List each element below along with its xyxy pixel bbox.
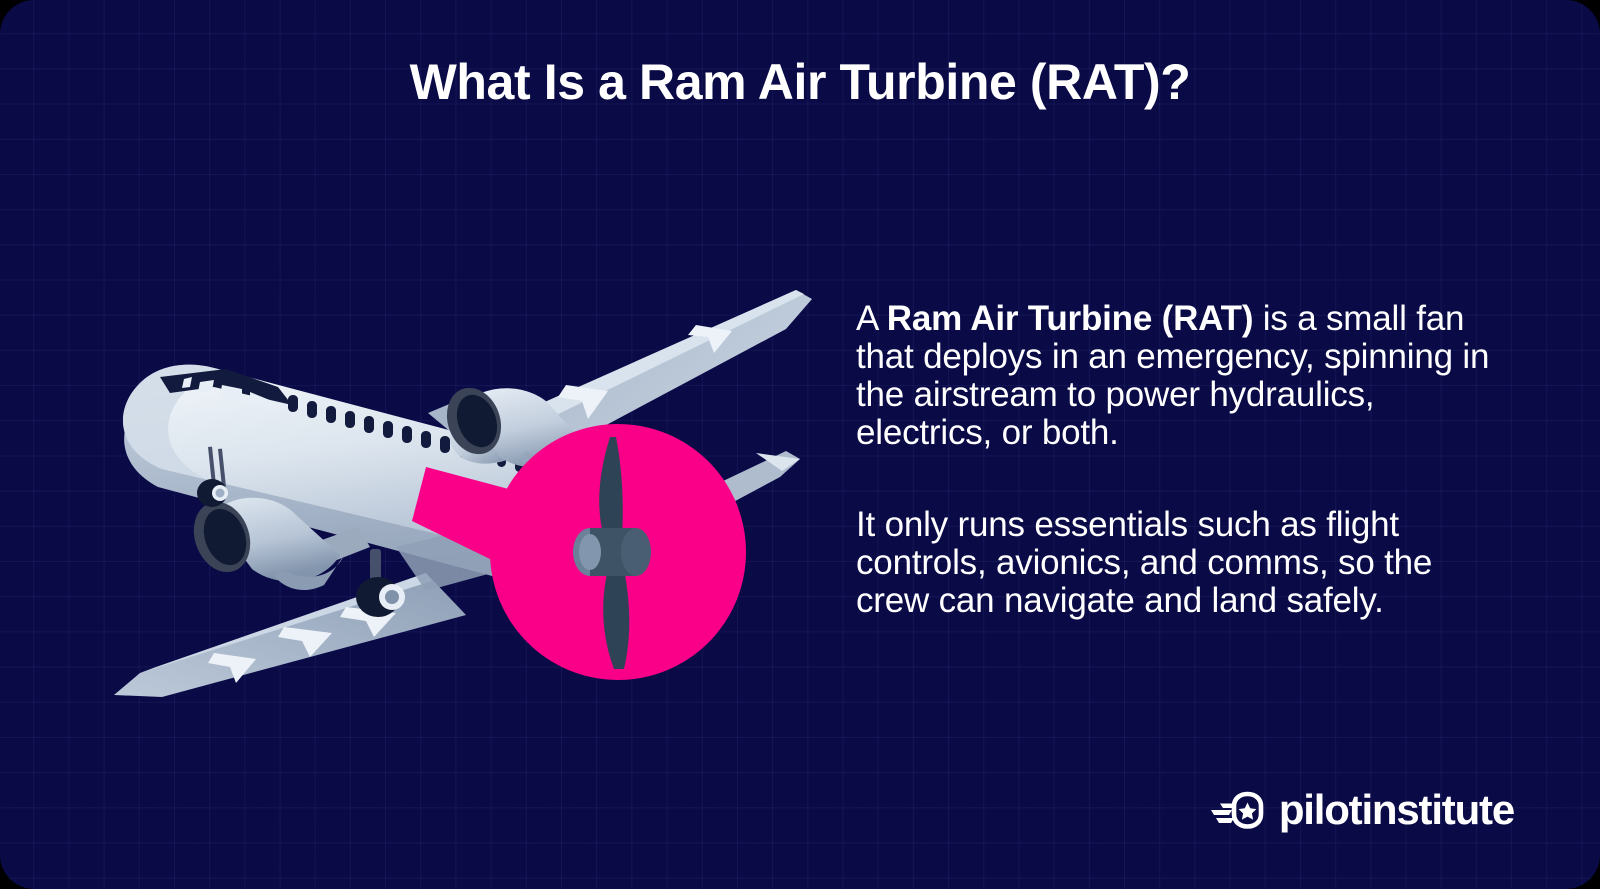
paragraph1-lead: A <box>856 299 887 338</box>
infographic-canvas: What Is a Ram Air Turbine (RAT)? <box>0 0 1600 889</box>
winged-shield-star-icon <box>1210 790 1266 830</box>
paragraph-essentials: It only runs essentials such as flight c… <box>856 506 1496 620</box>
turbine-spinner <box>579 534 601 570</box>
logo-wordmark: pilotinstitute <box>1279 789 1514 831</box>
page-title: What Is a Ram Air Turbine (RAT)? <box>0 52 1600 112</box>
body-text-column: A Ram Air Turbine (RAT) is a small fan t… <box>856 300 1496 620</box>
paragraph-definition: A Ram Air Turbine (RAT) is a small fan t… <box>856 300 1496 452</box>
paragraph1-bold-term: Ram Air Turbine (RAT) <box>887 299 1254 338</box>
turbine-hub-rear <box>621 528 651 576</box>
near-wing <box>114 573 466 697</box>
brand-logo[interactable]: pilotinstitute <box>1210 789 1514 831</box>
aircraft-svg <box>96 255 816 715</box>
star-glyph <box>1238 803 1256 820</box>
aircraft-illustration <box>96 255 816 715</box>
